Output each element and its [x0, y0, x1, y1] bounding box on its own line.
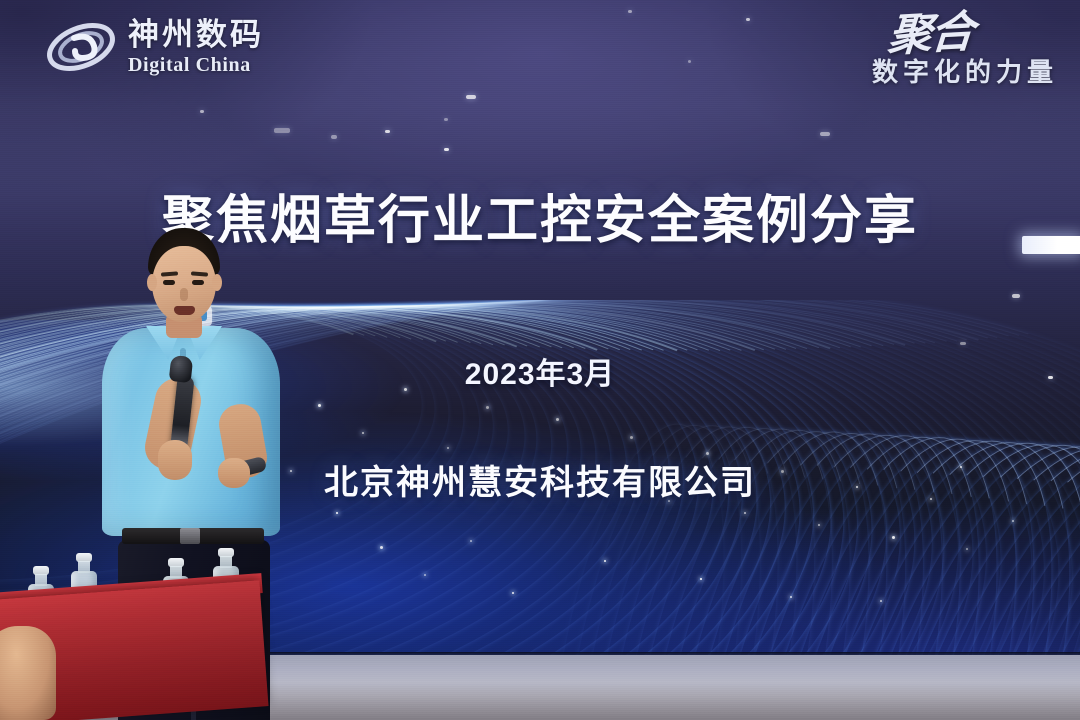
speaker-nose	[180, 288, 188, 301]
speaker-mouth	[174, 306, 195, 315]
bokeh-dash	[820, 132, 830, 136]
bokeh-dash	[960, 342, 966, 345]
conference-photo: 神州数码 Digital China 聚合 数字化的力量 聚焦烟草行业工控安全案…	[0, 0, 1080, 720]
brand-name-en: Digital China	[128, 55, 264, 75]
microphone-head-icon	[169, 355, 194, 383]
event-calligraphy: 聚合	[870, 11, 973, 58]
event-mark: 聚合 数字化的力量	[872, 14, 1058, 89]
particle-dot	[630, 436, 633, 439]
bokeh-dash	[1012, 294, 1020, 298]
speaker-ear-right	[212, 274, 222, 291]
particle-dot	[470, 540, 472, 542]
bokeh-dash	[274, 128, 290, 133]
speaker-ear-left	[147, 274, 157, 291]
speaker-hand-left	[158, 440, 192, 480]
bokeh-dash	[688, 60, 691, 63]
particle-dot	[512, 592, 514, 594]
bokeh-dash	[746, 18, 750, 21]
bokeh-dash	[628, 10, 632, 13]
particle-dot	[892, 536, 895, 539]
particle-dot	[604, 560, 606, 562]
particle-dot	[336, 512, 338, 514]
particle-dot	[1012, 520, 1014, 522]
digital-china-swirl-icon	[44, 16, 118, 78]
speaker-hand-right	[218, 458, 250, 488]
bokeh-dash	[385, 130, 390, 133]
particle-dot	[380, 546, 383, 549]
particle-dot	[818, 524, 820, 526]
particle-dot	[318, 404, 321, 407]
brand-logo: 神州数码 Digital China	[44, 16, 264, 78]
speaker-eye-right	[192, 280, 204, 285]
speaker-belt-buckle	[180, 528, 200, 544]
foreground-attendee	[0, 626, 56, 720]
bokeh-dash	[331, 135, 337, 139]
particle-dot	[700, 578, 702, 580]
brand-name-cn: 神州数码	[128, 19, 264, 50]
bokeh-dash	[444, 118, 448, 121]
particle-dot	[556, 418, 559, 421]
particle-dot	[424, 574, 426, 576]
particle-dot	[447, 447, 449, 449]
particle-dot	[790, 596, 792, 598]
bokeh-dash	[466, 95, 476, 99]
particle-dot	[362, 432, 364, 434]
speaker-eye-left	[163, 280, 175, 285]
brand-wordmark: 神州数码 Digital China	[128, 19, 264, 75]
particle-dot	[966, 548, 968, 550]
bokeh-dash	[200, 110, 204, 113]
particle-dot	[744, 512, 746, 514]
bokeh-dash	[444, 148, 449, 151]
particle-dot	[880, 600, 882, 602]
edge-light-bar	[1022, 236, 1080, 254]
particle-dot	[486, 406, 489, 409]
